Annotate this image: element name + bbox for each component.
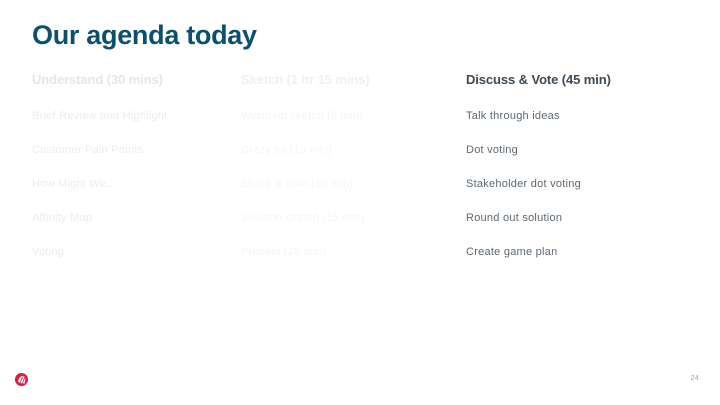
agenda-item[interactable]: Affinity Map (32, 211, 232, 225)
agenda-column-header: Sketch (1 hr 15 mins) (241, 72, 456, 88)
agenda-item[interactable]: Round out solution (466, 211, 691, 225)
agenda-item[interactable]: Customer Pain Points (32, 143, 232, 157)
agenda-item[interactable]: Brief Review and Highlight (32, 109, 232, 123)
agenda-columns: Understand (30 mins) Brief Review and Hi… (0, 72, 720, 272)
page-title: Our agenda today (32, 18, 257, 52)
agenda-item[interactable]: Crazy 8s (10 min) (241, 143, 456, 157)
agenda-column-header: Discuss & Vote (45 min) (466, 72, 691, 88)
agenda-item[interactable]: Dot voting (466, 143, 691, 157)
agenda-column-sketch: Sketch (1 hr 15 mins) Warm up sketch (5 … (241, 72, 456, 259)
agenda-item[interactable]: Talk through ideas (466, 109, 691, 123)
agenda-item[interactable]: Present (25 min) (241, 245, 456, 259)
agenda-item[interactable]: Solution sketch (15 min) (241, 211, 456, 225)
slide-canvas: Our agenda today Understand (30 mins) Br… (0, 0, 720, 405)
agenda-column-understand: Understand (30 mins) Brief Review and Hi… (32, 72, 232, 259)
agenda-item[interactable]: How Might We... (32, 177, 232, 191)
agenda-item[interactable]: Stakeholder dot voting (466, 177, 691, 191)
agenda-column-header: Understand (30 mins) (32, 72, 232, 88)
agenda-column-discuss-vote: Discuss & Vote (45 min) Talk through ide… (466, 72, 691, 259)
agenda-item[interactable]: Voting (32, 245, 232, 259)
page-number: 24 (691, 374, 699, 384)
agenda-item[interactable]: Warm up sketch (5 min) (241, 109, 456, 123)
agenda-item[interactable]: Create game plan (466, 245, 691, 259)
company-logo-icon (14, 372, 29, 387)
agenda-item[interactable]: Share & vote (10 min) (241, 177, 456, 191)
